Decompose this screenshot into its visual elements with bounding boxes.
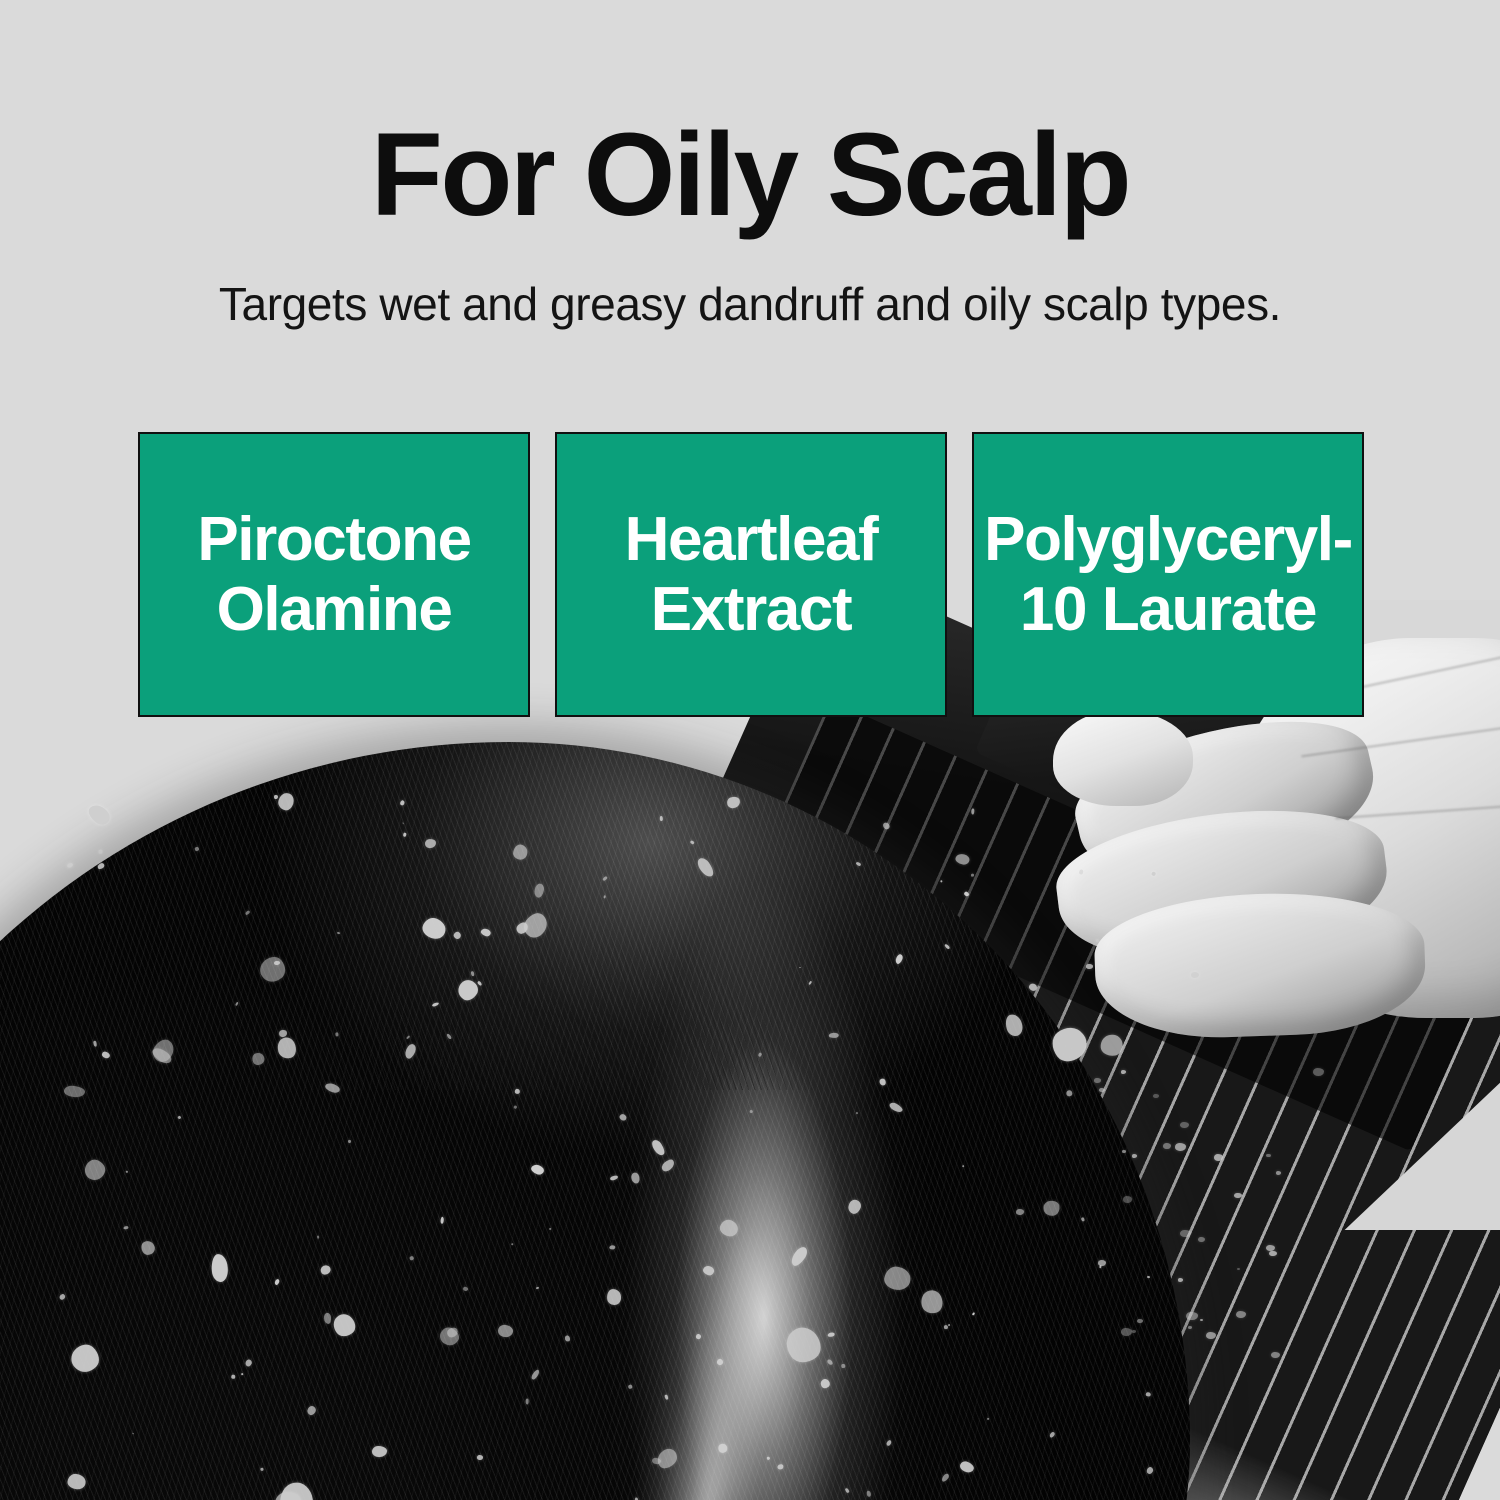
dandruff-flake [348,1140,351,1143]
ingredient-card-2[interactable]: Heartleaf Extract [555,432,947,717]
dandruff-flake [525,1399,528,1405]
dandruff-flake [261,1468,264,1471]
dandruff-flake [971,874,974,877]
dandruff-flake [1094,1078,1101,1083]
ingredient-card-3[interactable]: Polyglyceryl- 10 Laurate [972,432,1364,717]
dandruff-flake [1086,964,1093,969]
ingredient-card-label: Piroctone Olamine [197,505,470,644]
dandruff-flake [1132,1330,1136,1333]
page-subtitle: Targets wet and greasy dandruff and oily… [0,279,1500,330]
dandruff-flake [1271,1352,1280,1358]
dandruff-flake [1206,1332,1216,1339]
dandruff-flake [335,1032,338,1036]
dandruff-flake [1276,1171,1281,1175]
dandruff-flake [1016,1209,1024,1215]
dandruff-flake [1191,972,1199,978]
ingredient-card-label: Heartleaf Extract [625,505,878,644]
dandruff-flake [1121,1070,1126,1074]
product-feature-image: For Oily Scalp Targets wet and greasy da… [0,0,1500,1500]
dandruff-flake [1145,1392,1150,1397]
dandruff-flake [1214,1154,1223,1161]
dandruff-flake [1099,1088,1105,1092]
dandruff-flake [1266,1154,1271,1157]
ingredient-card-label: Polyglyceryl- 10 Laurate [984,505,1352,644]
dandruff-flake [1137,1319,1143,1323]
dandruff-flake [962,1165,964,1167]
dandruff-flake [515,1089,520,1094]
thumb [1053,710,1193,806]
dandruff-flake [1132,1154,1137,1158]
dandruff-flake [1123,1196,1132,1203]
dandruff-flake [1153,1094,1159,1098]
dandruff-flake [1122,1150,1126,1153]
dandruff-flake [99,850,103,854]
ingredient-card-1[interactable]: Piroctone Olamine [138,432,530,717]
dandruff-flake [1188,1326,1192,1329]
dandruff-flake [841,1363,845,1368]
dandruff-flake [1163,1143,1171,1149]
dandruff-flake [1178,1278,1183,1282]
dandruff-flake [1269,1251,1277,1256]
dandruff-flake [1175,1143,1186,1151]
dandruff-flake [317,1235,319,1238]
ingredient-card-list: Piroctone Olamine Heartleaf Extract Poly… [138,432,1364,717]
dandruff-flake [511,1243,514,1245]
page-title: For Oily Scalp [0,116,1500,234]
dandruff-flake [1234,1193,1242,1198]
dandruff-flake [231,1375,235,1379]
dandruff-flake [829,1033,839,1038]
dandruff-flake [750,1110,753,1113]
dandruff-flake [477,1455,483,1460]
